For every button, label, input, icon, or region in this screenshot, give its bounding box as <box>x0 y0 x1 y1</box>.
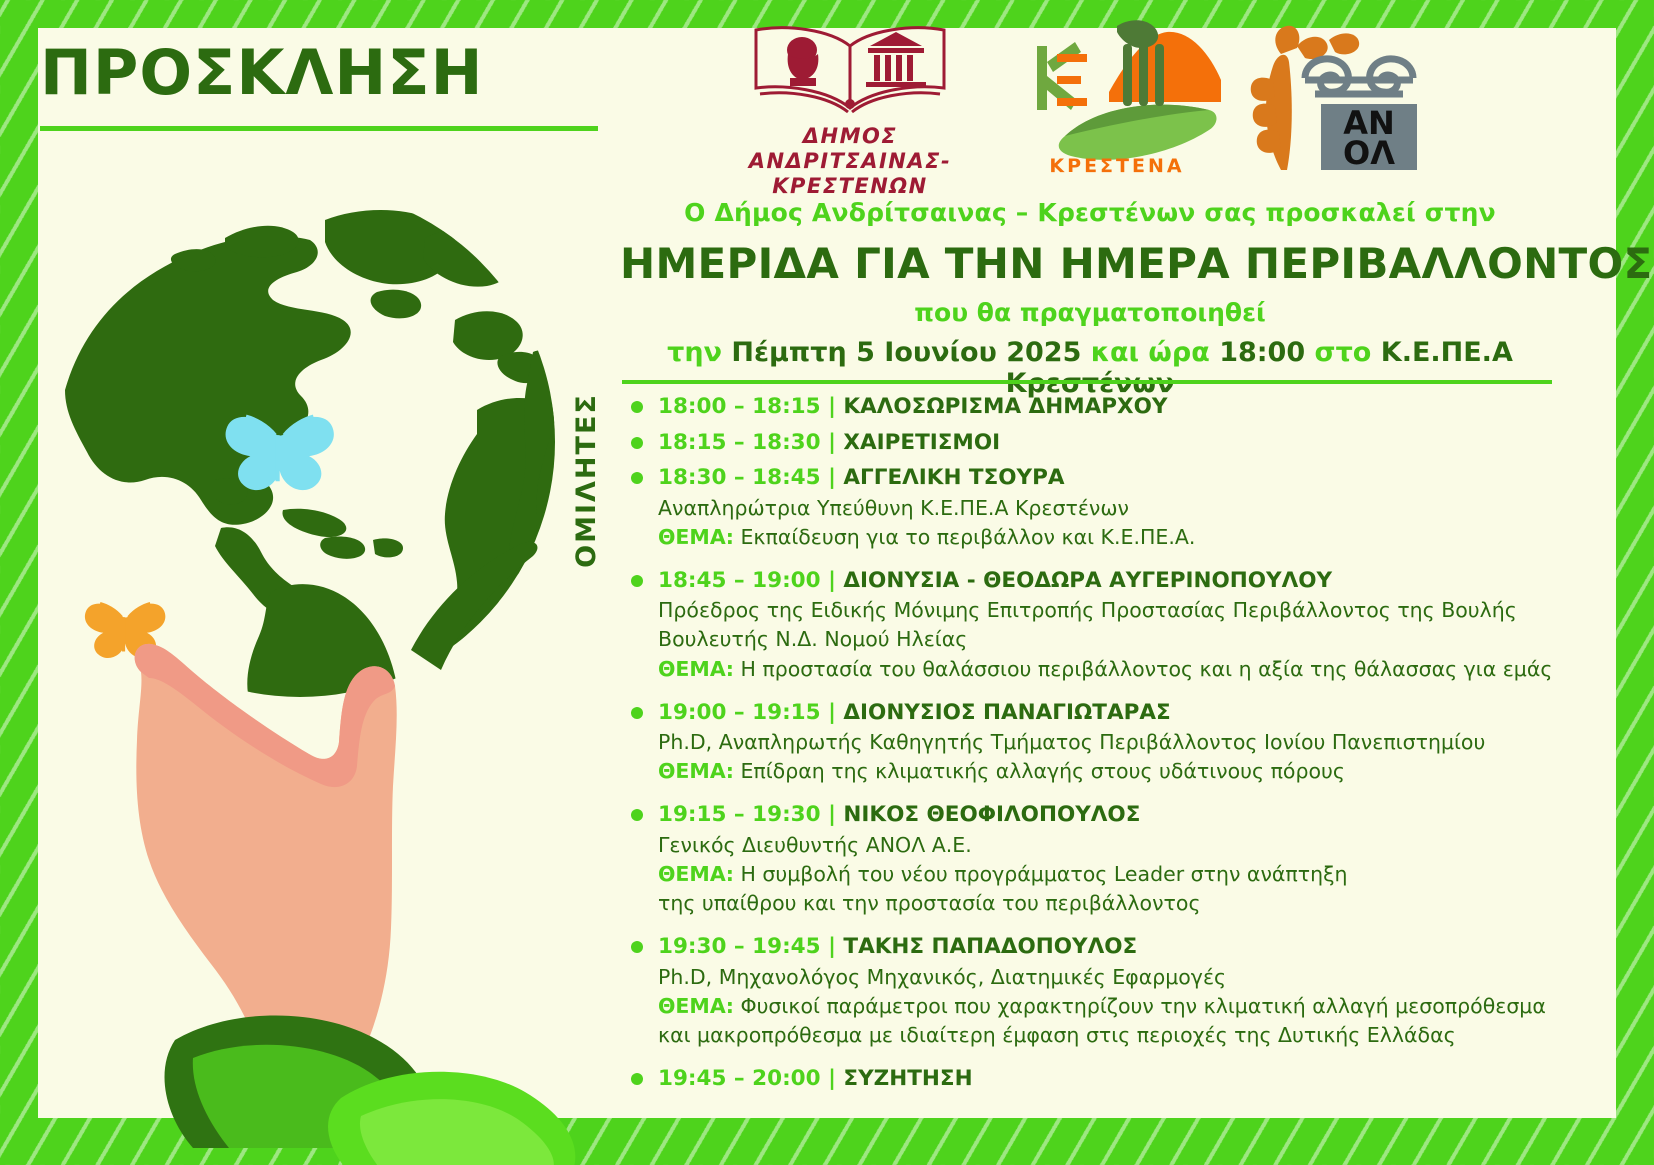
schedule-speaker-name: ΔΙΟΝΥΣΙΟΣ ΠΑΝΑΓΙΩΤΑΡΑΣ <box>843 700 1170 725</box>
event-time: 18:00 <box>1219 337 1305 368</box>
invite-subline: που θα πραγματοποιηθεί <box>620 298 1560 327</box>
date-prefix: την <box>667 337 722 368</box>
page-title: ΠΡΟΣΚΛΗΣΗ <box>40 42 640 104</box>
schedule-topic-line: ΘΕΜΑ: Η συμβολή του νέου προγράμματος Le… <box>658 860 1606 889</box>
bullet-icon <box>631 472 643 484</box>
anol-logo: ΑΝ ΟΛ <box>1235 4 1420 184</box>
schedule-speaker-name: ΔΙΟΝΥΣΙΑ - ΘΕΟΔΩΡΑ ΑΥΓΕΡΙΝΟΠΟΥΛΟΥ <box>843 568 1332 593</box>
line-text: Εκπαίδευση για το περιβάλλον και Κ.Ε.ΠΕ.… <box>740 525 1195 549</box>
schedule-separator: | <box>821 934 844 959</box>
schedule-separator: | <box>821 394 844 419</box>
topic-label: ΘΕΜΑ: <box>658 862 734 886</box>
schedule-time: 18:00 – 18:15 <box>658 394 821 419</box>
dimos-logo-line2: ΑΝΔΡΙΤΣΑΙΝΑΣ-ΚΡΕΣΤΕΝΩΝ <box>700 149 1000 199</box>
dimos-logo-line1: ΔΗΜΟΣ <box>700 124 1000 149</box>
schedule-item: 18:15 – 18:30 | ΧΑΙΡΕΤΙΣΜΟΙ <box>626 428 1606 459</box>
bullet-icon <box>631 941 643 953</box>
schedule-item-head: 18:00 – 18:15 | ΚΑΛΟΣΩΡΙΣΜΑ ΔΗΜΑΡΧΟΥ <box>658 392 1606 423</box>
schedule-separator: | <box>821 700 844 725</box>
bullet-icon <box>631 1073 643 1085</box>
schedule-item: 19:00 – 19:15 | ΔΙΟΝΥΣΙΟΣ ΠΑΝΑΓΙΩΤΑΡΑΣPh… <box>626 698 1606 787</box>
schedule-detail-line: Βουλευτής Ν.Δ. Νομού Ηλείας <box>658 625 1606 654</box>
anol-logo-ol: ΟΛ <box>1343 134 1395 172</box>
speakers-label-text: ΟΜΙΛΗΤΕΣ <box>571 393 602 568</box>
krestena-kepea-logo: ΚΡΕΣΤΕΝΑ <box>1013 4 1223 180</box>
line-text: Αναπληρώτρια Υπεύθυνη Κ.Ε.ΠΕ.Α Κρεστένων <box>658 496 1129 520</box>
schedule-topic-line: ΘΕΜΑ: Φυσικοί παράμετροι που χαρακτηρίζο… <box>658 992 1606 1021</box>
line-text: Γενικός Διευθυντής ΑΝΟΛ Α.Ε. <box>658 833 972 857</box>
line-text: και μακροπρόθεσμα με ιδιαίτερη έμφαση στ… <box>658 1023 1456 1047</box>
schedule-item: 19:30 – 19:45 | ΤΑΚΗΣ ΠΑΠΑΔΟΠΟΥΛΟΣPh.D, … <box>626 932 1606 1050</box>
schedule-item: 19:45 – 20:00 | ΣΥΖΗΤΗΣΗ <box>626 1064 1606 1095</box>
schedule-item-head: 19:45 – 20:00 | ΣΥΖΗΤΗΣΗ <box>658 1064 1606 1095</box>
speakers-vertical-label: ΟΜΙΛΗΤΕΣ <box>566 390 606 570</box>
bullet-icon <box>631 437 643 449</box>
line-text: Επίδραη της κλιματικής αλλαγής στους υδά… <box>740 759 1344 783</box>
line-text: της υπαίθρου και την προστασία του περιβ… <box>658 891 1200 915</box>
schedule-time: 18:30 – 18:45 <box>658 465 821 490</box>
bullet-icon <box>631 575 643 587</box>
schedule-speaker-name: ΧΑΙΡΕΤΙΣΜΟΙ <box>843 430 1000 455</box>
line-text: Η προστασία του θαλάσσιου περιβάλλοντος … <box>740 657 1552 681</box>
schedule-topic-line: ΘΕΜΑ: Η προστασία του θαλάσσιου περιβάλλ… <box>658 655 1606 684</box>
schedule-time: 19:45 – 20:00 <box>658 1066 821 1091</box>
schedule-detail-line: Γενικός Διευθυντής ΑΝΟΛ Α.Ε. <box>658 831 1606 860</box>
schedule-item-head: 18:30 – 18:45 | ΑΓΓΕΛΙΚΗ ΤΣΟΥΡΑ <box>658 463 1606 494</box>
line-text: Ph.D, Αναπληρωτής Καθηγητής Τμήματος Περ… <box>658 730 1485 754</box>
schedule-list: 18:00 – 18:15 | ΚΑΛΟΣΩΡΙΣΜΑ ΔΗΜΑΡΧΟΥ18:1… <box>626 392 1606 1100</box>
schedule-detail-line: Πρόεδρος της Ειδικής Μόνιμης Επιτροπής Π… <box>658 596 1606 625</box>
schedule-speaker-name: ΝΙΚΟΣ ΘΕΟΦΙΛΟΠΟΥΛΟΣ <box>843 802 1140 827</box>
schedule-separator: | <box>821 465 844 490</box>
hand-holding-globe-icon <box>135 644 397 1058</box>
line-text: Η συμβολή του νέου προγράμματος Leader σ… <box>740 862 1347 886</box>
line-text: Φυσικοί παράμετροι που χαρακτηρίζουν την… <box>740 994 1545 1018</box>
topic-label: ΘΕΜΑ: <box>658 759 734 783</box>
invitation-header: Ο Δήμος Ανδρίτσαινας – Κρεστένων σας προ… <box>620 198 1560 399</box>
schedule-separator: | <box>821 568 844 593</box>
schedule-detail-line: της υπαίθρου και την προστασία του περιβ… <box>658 889 1606 918</box>
schedule-item-head: 19:15 – 19:30 | ΝΙΚΟΣ ΘΕΟΦΙΛΟΠΟΥΛΟΣ <box>658 800 1606 831</box>
schedule-detail-line: Ph.D, Μηχανολόγος Μηχανικός, Διατημικές … <box>658 963 1606 992</box>
schedule-item: 18:45 – 19:00 | ΔΙΟΝΥΣΙΑ - ΘΕΟΔΩΡΑ ΑΥΓΕΡ… <box>626 566 1606 684</box>
topic-label: ΘΕΜΑ: <box>658 994 734 1018</box>
page-title-block: ΠΡΟΣΚΛΗΣΗ <box>40 42 640 131</box>
schedule-time: 19:15 – 19:30 <box>658 802 821 827</box>
line-text: Ph.D, Μηχανολόγος Μηχανικός, Διατημικές … <box>658 965 1226 989</box>
dimos-andritsainas-krestenon-logo: ΔΗΜΟΣ ΑΝΔΡΙΤΣΑΙΝΑΣ-ΚΡΕΣΤΕΝΩΝ <box>700 4 1000 198</box>
schedule-time: 19:30 – 19:45 <box>658 934 821 959</box>
event-date: Πέμπτη 5 Ιουνίου 2025 <box>731 337 1081 368</box>
schedule-separator: | <box>821 430 844 455</box>
schedule-separator: | <box>821 1066 844 1091</box>
schedule-detail-line: Αναπληρώτρια Υπεύθυνη Κ.Ε.ΠΕ.Α Κρεστένων <box>658 494 1606 523</box>
line-text: Πρόεδρος της Ειδικής Μόνιμης Επιτροπής Π… <box>658 598 1517 622</box>
invite-intro-line: Ο Δήμος Ανδρίτσαινας – Κρεστένων σας προ… <box>620 198 1560 227</box>
schedule-topic-line: ΘΕΜΑ: Εκπαίδευση για το περιβάλλον και Κ… <box>658 523 1606 552</box>
schedule-divider <box>622 380 1552 384</box>
schedule-time: 18:15 – 18:30 <box>658 430 821 455</box>
event-title: ΗΜΕΡΙΔΑ ΓΙΑ ΤΗΝ ΗΜΕΡΑ ΠΕΡΙΒΑΛΛΟΝΤΟΣ <box>620 239 1560 288</box>
schedule-item-head: 18:15 – 18:30 | ΧΑΙΡΕΤΙΣΜΟΙ <box>658 428 1606 459</box>
venue-prefix: στο <box>1315 337 1372 368</box>
schedule-detail-line: και μακροπρόθεσμα με ιδιαίτερη έμφαση στ… <box>658 1021 1606 1050</box>
schedule-topic-line: ΘΕΜΑ: Επίδραη της κλιματικής αλλαγής στο… <box>658 757 1606 786</box>
schedule-speaker-name: ΣΥΖΗΤΗΣΗ <box>843 1066 972 1091</box>
bullet-icon <box>631 401 643 413</box>
schedule-item: 18:30 – 18:45 | ΑΓΓΕΛΙΚΗ ΤΣΟΥΡΑΑναπληρώτ… <box>626 463 1606 552</box>
open-book-temple-icon <box>740 16 960 124</box>
time-prefix: και ώρα <box>1091 337 1210 368</box>
schedule-detail-line: Ph.D, Αναπληρωτής Καθηγητής Τμήματος Περ… <box>658 728 1606 757</box>
schedule-time: 19:00 – 19:15 <box>658 700 821 725</box>
schedule-speaker-name: ΚΑΛΟΣΩΡΙΣΜΑ ΔΗΜΑΡΧΟΥ <box>843 394 1167 419</box>
schedule-speaker-name: ΤΑΚΗΣ ΠΑΠΑΔΟΠΟΥΛΟΣ <box>843 934 1137 959</box>
schedule-item: 18:00 – 18:15 | ΚΑΛΟΣΩΡΙΣΜΑ ΔΗΜΑΡΧΟΥ <box>626 392 1606 423</box>
environment-illustration <box>25 180 605 1165</box>
line-text: Βουλευτής Ν.Δ. Νομού Ηλείας <box>658 627 967 651</box>
schedule-speaker-name: ΑΓΓΕΛΙΚΗ ΤΣΟΥΡΑ <box>843 465 1064 490</box>
bullet-icon <box>631 707 643 719</box>
event-datetime-venue: την Πέμπτη 5 Ιουνίου 2025 και ώρα 18:00 … <box>620 337 1560 399</box>
logos-row: ΔΗΜΟΣ ΑΝΔΡΙΤΣΑΙΝΑΣ-ΚΡΕΣΤΕΝΩΝ <box>700 4 1420 194</box>
schedule-item-head: 19:30 – 19:45 | ΤΑΚΗΣ ΠΑΠΑΔΟΠΟΥΛΟΣ <box>658 932 1606 963</box>
schedule-item-head: 19:00 – 19:15 | ΔΙΟΝΥΣΙΟΣ ΠΑΝΑΓΙΩΤΑΡΑΣ <box>658 698 1606 729</box>
schedule-item-head: 18:45 – 19:00 | ΔΙΟΝΥΣΙΑ - ΘΕΟΔΩΡΑ ΑΥΓΕΡ… <box>658 566 1606 597</box>
schedule-item: 19:15 – 19:30 | ΝΙΚΟΣ ΘΕΟΦΙΛΟΠΟΥΛΟΣΓενικ… <box>626 800 1606 918</box>
topic-label: ΘΕΜΑ: <box>658 657 734 681</box>
bullet-icon <box>631 809 643 821</box>
krestena-logo-caption: ΚΡΕΣΤΕΝΑ <box>1049 155 1184 176</box>
topic-label: ΘΕΜΑ: <box>658 525 734 549</box>
title-underline <box>40 126 598 131</box>
schedule-time: 18:45 – 19:00 <box>658 568 821 593</box>
schedule-separator: | <box>821 802 844 827</box>
